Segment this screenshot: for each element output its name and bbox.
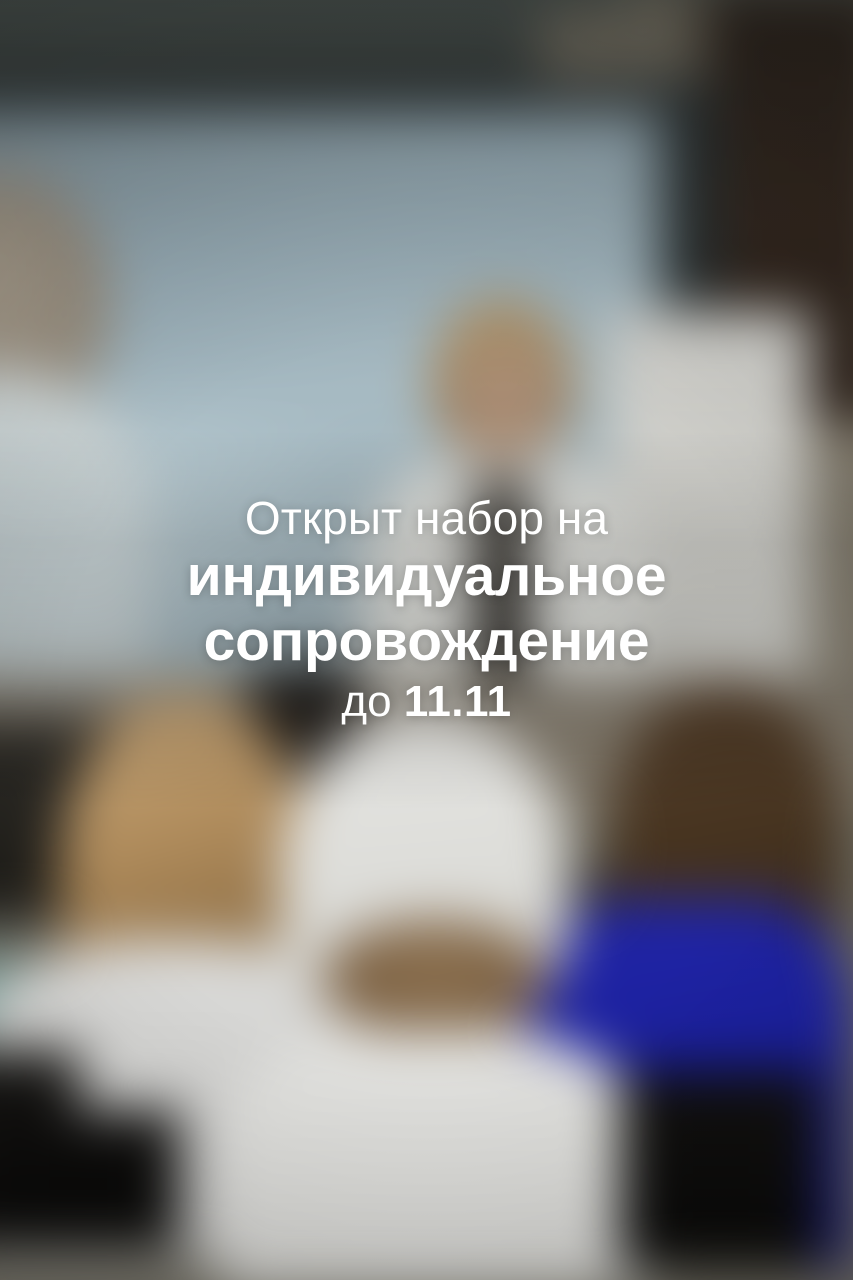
deadline-date: 11.11 (404, 677, 512, 726)
headline-line-4: до 11.11 (0, 676, 853, 729)
promo-poster: Открыт набор на индивидуальное сопровожд… (0, 0, 853, 1280)
audience-center-body-shape (220, 1030, 650, 1280)
headline-line-2: индивидуальное (0, 544, 853, 609)
audience-center-hairline-shape (320, 920, 550, 1040)
headline-overlay: Открыт набор на индивидуальное сопровожд… (0, 492, 853, 729)
headline-line-3: сопровождение (0, 609, 853, 674)
foreground-chair-right-shape (620, 1070, 820, 1270)
headline-line-1: Открыт набор на (0, 492, 853, 544)
foreground-chair-mid-shape (0, 1110, 180, 1250)
deadline-prefix: до (341, 677, 403, 726)
